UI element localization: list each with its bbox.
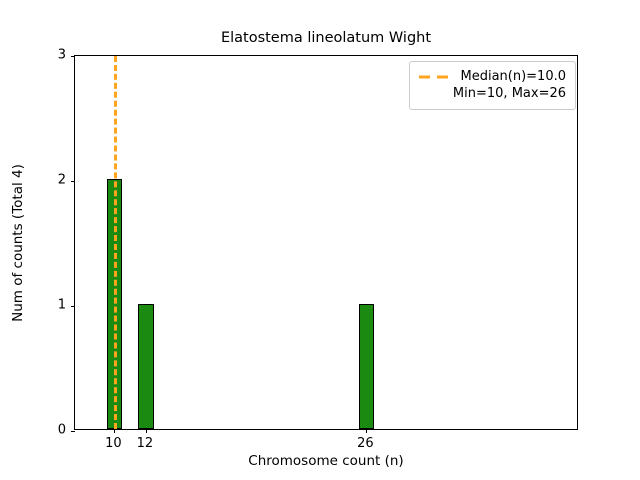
plot-inner: Median(n)=10.0 Min=10, Max=26: [75, 56, 577, 429]
y-axis-label: Num of counts (Total 4): [10, 164, 26, 322]
bar: [138, 304, 154, 429]
median-line-annotation: [114, 56, 117, 429]
x-tick-mark: [146, 429, 147, 433]
x-tick-mark: [366, 429, 367, 433]
bar: [359, 304, 375, 429]
y-tick-mark: [71, 431, 75, 432]
y-tick-label: 2: [36, 173, 66, 188]
legend-label-minmax: Min=10, Max=26: [453, 85, 566, 102]
y-tick-mark: [71, 306, 75, 307]
plot-area: Median(n)=10.0 Min=10, Max=26: [74, 55, 578, 430]
dashed-line-icon: [419, 70, 451, 84]
x-axis-label: Chromosome count (n): [74, 453, 578, 469]
x-tick-label: 12: [137, 436, 154, 451]
y-tick-mark: [71, 181, 75, 182]
legend-label-median: Median(n)=10.0: [460, 68, 566, 85]
legend-entry-minmax: Min=10, Max=26: [419, 85, 566, 102]
x-tick-label: 26: [357, 436, 374, 451]
x-tick-mark: [114, 429, 115, 433]
chart-title: Elatostema lineolatum Wight: [74, 29, 578, 47]
x-tick-label: 10: [105, 436, 122, 451]
y-tick-label: 0: [36, 423, 66, 438]
chart-legend: Median(n)=10.0 Min=10, Max=26: [409, 61, 576, 110]
y-axis-label-container: Num of counts (Total 4): [0, 55, 36, 430]
y-tick-mark: [71, 56, 75, 57]
chart-figure: Elatostema lineolatum Wight Num of count…: [0, 0, 640, 480]
y-tick-label: 3: [36, 48, 66, 63]
y-tick-label: 1: [36, 298, 66, 313]
legend-entry-median: Median(n)=10.0: [419, 68, 566, 85]
